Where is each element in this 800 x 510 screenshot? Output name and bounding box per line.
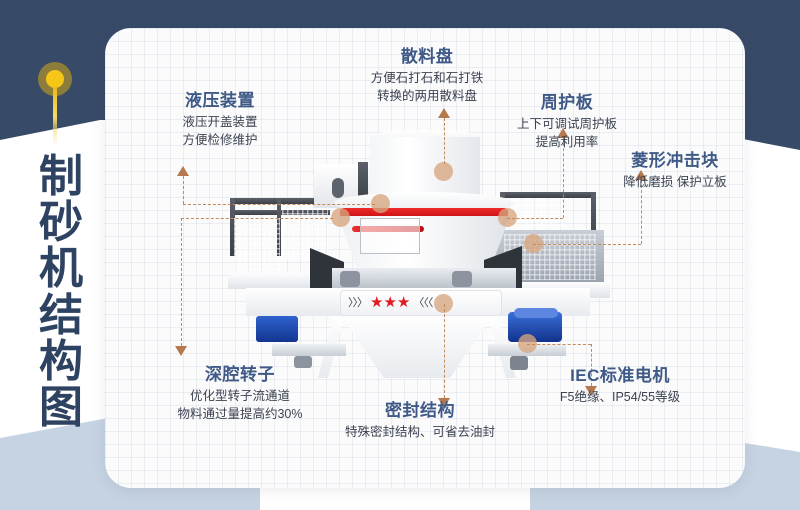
callout-sealing-structure[interactable]: 密封结构 特殊密封结构、可省去油封 — [320, 400, 520, 441]
right-railing-top — [500, 192, 596, 198]
page-title-char-5: 构 — [32, 339, 90, 385]
page-title-char-3: 机 — [32, 246, 90, 292]
brand-stars-icon: ★★★ — [370, 293, 410, 311]
connector-material-plate-v — [444, 118, 445, 164]
chevron-right-icon: 〈〈〈 — [413, 294, 432, 310]
pin-dot — [46, 70, 64, 88]
inspection-door — [360, 218, 420, 254]
callout-material-plate-line-1: 方便石打石和石打铁 — [337, 69, 517, 87]
seal-bolt-left — [340, 271, 360, 287]
sand-making-machine-illustration: 〉〉〉 ★★★ 〈〈〈 — [222, 130, 612, 380]
connector-impact-h — [533, 244, 641, 245]
callout-deep-rotor-line-1: 优化型转子流通道 — [140, 387, 340, 405]
callout-hydraulic-device-line-1: 液压开盖装置 — [145, 113, 295, 131]
arrowhead-material-plate — [438, 108, 450, 118]
left-mesh-panel-b — [282, 208, 328, 260]
callout-guard-plate-title: 周护板 — [487, 92, 647, 115]
callout-material-plate-title: 散料盘 — [337, 46, 517, 69]
left-mesh-panel-a — [234, 218, 280, 276]
arrowhead-rotor — [175, 346, 187, 356]
brand-badge-content: 〉〉〉 ★★★ 〈〈〈 — [348, 293, 432, 311]
pin-stem — [53, 88, 57, 146]
seal-bolt-right — [452, 271, 472, 287]
callout-impact-block-line-1: 降低磨损 保护立板 — [592, 173, 758, 191]
page-title-char-6: 图 — [32, 385, 90, 431]
callout-peripheral-guard-plate[interactable]: 周护板 上下可调试周护板 提高利用率 — [487, 92, 647, 151]
callout-guard-plate-line-1: 上下可调试周护板 — [487, 115, 647, 133]
pin-marker-icon — [38, 62, 78, 142]
callout-diamond-impact-block[interactable]: 菱形冲击块 降低磨损 保护立板 — [592, 150, 758, 191]
base-rail-left — [272, 344, 346, 356]
callout-deep-rotor-line-2: 物料通过量提高约30% — [140, 405, 340, 423]
arrowhead-hydraulic — [177, 166, 189, 176]
page-title-char-2: 砂 — [32, 200, 90, 246]
discharge-chute — [342, 316, 492, 378]
callout-iec-motor-title: IEC标准电机 — [525, 365, 715, 388]
motor-left — [256, 316, 298, 342]
node-deep-rotor — [331, 208, 350, 227]
callout-iec-motor-line-1: F5绝缘、IP54/55等级 — [525, 388, 715, 406]
connector-sealing-v — [444, 304, 445, 398]
hydraulic-port — [332, 178, 344, 198]
connector-hydraulic-h — [183, 204, 375, 205]
motor-right-cap — [514, 308, 558, 318]
page-title-char-1: 制 — [32, 154, 90, 200]
callout-hydraulic-device-title: 液压装置 — [145, 90, 295, 113]
callout-hydraulic-device[interactable]: 液压装置 液压开盖装置 方便检修维护 — [145, 90, 295, 149]
callout-iec-standard-motor[interactable]: IEC标准电机 F5绝缘、IP54/55等级 — [525, 365, 715, 406]
callout-deep-rotor-title: 深腔转子 — [140, 364, 340, 387]
callout-sealing-title: 密封结构 — [320, 400, 520, 423]
page-title-char-4: 结 — [32, 293, 90, 339]
connector-hydraulic-v — [183, 176, 184, 204]
callout-sealing-line-1: 特殊密封结构、可省去油封 — [320, 423, 520, 441]
callout-guard-plate-line-2: 提高利用率 — [487, 133, 647, 151]
connector-rotor-v — [181, 218, 182, 346]
node-material-plate — [434, 162, 453, 181]
connector-motor-h — [527, 344, 591, 345]
page-title: 制 砂 机 结 构 图 — [32, 154, 90, 431]
callout-impact-block-title: 菱形冲击块 — [592, 150, 758, 173]
chevron-left-icon: 〉〉〉 — [348, 294, 367, 310]
connector-rotor-h — [181, 218, 333, 219]
feed-hopper-body — [370, 137, 480, 197]
callout-hydraulic-device-line-2: 方便检修维护 — [145, 131, 295, 149]
callout-deep-cavity-rotor[interactable]: 深腔转子 优化型转子流通道 物料通过量提高约30% — [140, 364, 340, 423]
structure-diagram-poster: ROCU 制 砂 机 结 构 图 — [0, 0, 800, 510]
connector-guard-h — [507, 218, 563, 219]
